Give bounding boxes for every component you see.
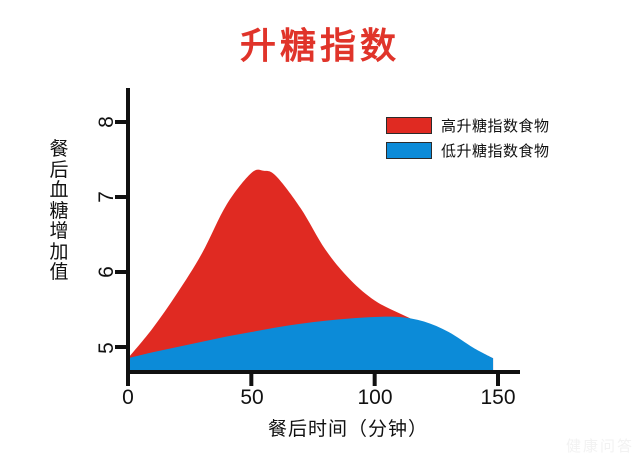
legend-label-low-gi: 低升糖指数食物 [441, 140, 550, 161]
y-tick-label-5: 5 [95, 335, 119, 361]
y-tick-label-7: 7 [95, 184, 119, 210]
x-axis-title: 餐后时间（分钟） [268, 414, 428, 441]
x-tick-label-150: 150 [470, 386, 526, 410]
series-layer [128, 170, 493, 372]
glycemic-index-chart: 升糖指数 8 7 6 5 0 50 100 150 餐后血糖增加值 餐后时间（分… [0, 0, 640, 462]
legend-item-low-gi: 低升糖指数食物 [386, 139, 550, 161]
y-tick-label-6: 6 [95, 259, 119, 285]
x-tick-label-50: 50 [228, 386, 276, 410]
x-tick-label-100: 100 [347, 386, 403, 410]
x-tick-label-0: 0 [110, 386, 146, 410]
y-axis-title: 餐后血糖增加值 [46, 140, 72, 284]
legend-swatch-high-gi [386, 117, 432, 134]
legend: 高升糖指数食物 低升糖指数食物 [386, 114, 550, 164]
y-tick-label-8: 8 [95, 109, 119, 135]
legend-swatch-low-gi [386, 142, 432, 159]
legend-item-high-gi: 高升糖指数食物 [386, 114, 550, 136]
legend-label-high-gi: 高升糖指数食物 [441, 115, 550, 136]
plot-area [0, 0, 640, 462]
watermark: 健康问答 [566, 435, 634, 456]
